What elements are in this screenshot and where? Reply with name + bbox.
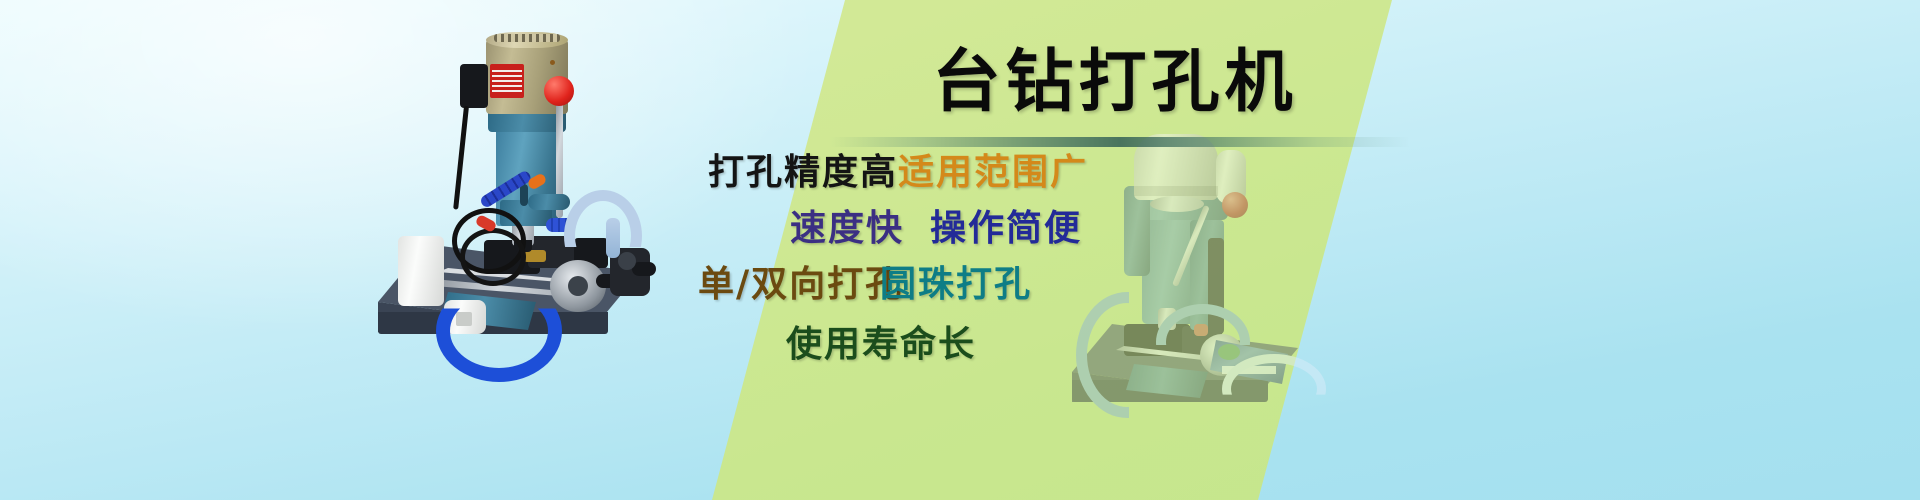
feature-item-easy-use: 操作简便	[930, 202, 1082, 254]
feature-item-ball-drill: 圆珠打孔	[880, 258, 1032, 310]
feature-row-2: 速度快 操作简便	[690, 202, 1310, 258]
feature-item-direction: 单/双向打孔	[698, 258, 903, 310]
feature-item-range: 适用范围广	[898, 146, 1088, 198]
left-machine-photo	[378, 12, 648, 362]
feature-item-lifespan: 使用寿命长	[786, 318, 976, 370]
product-banner: 台钻打孔机 打孔精度高 适用范围广 速度快 操作简便 单/双向打孔 圆珠打孔 使…	[0, 0, 1920, 500]
feature-item-precision: 打孔精度高	[708, 146, 898, 198]
feature-row-3: 单/双向打孔 圆珠打孔	[690, 258, 1310, 314]
feature-row-4: 使用寿命长	[690, 318, 1310, 374]
feature-item-speed: 速度快	[790, 202, 904, 254]
feature-list: 打孔精度高 适用范围广 速度快 操作简便 单/双向打孔 圆珠打孔 使用寿命长	[690, 136, 1310, 436]
feature-row-1: 打孔精度高 适用范围广	[690, 146, 1310, 202]
page-title: 台钻打孔机	[880, 38, 1350, 126]
